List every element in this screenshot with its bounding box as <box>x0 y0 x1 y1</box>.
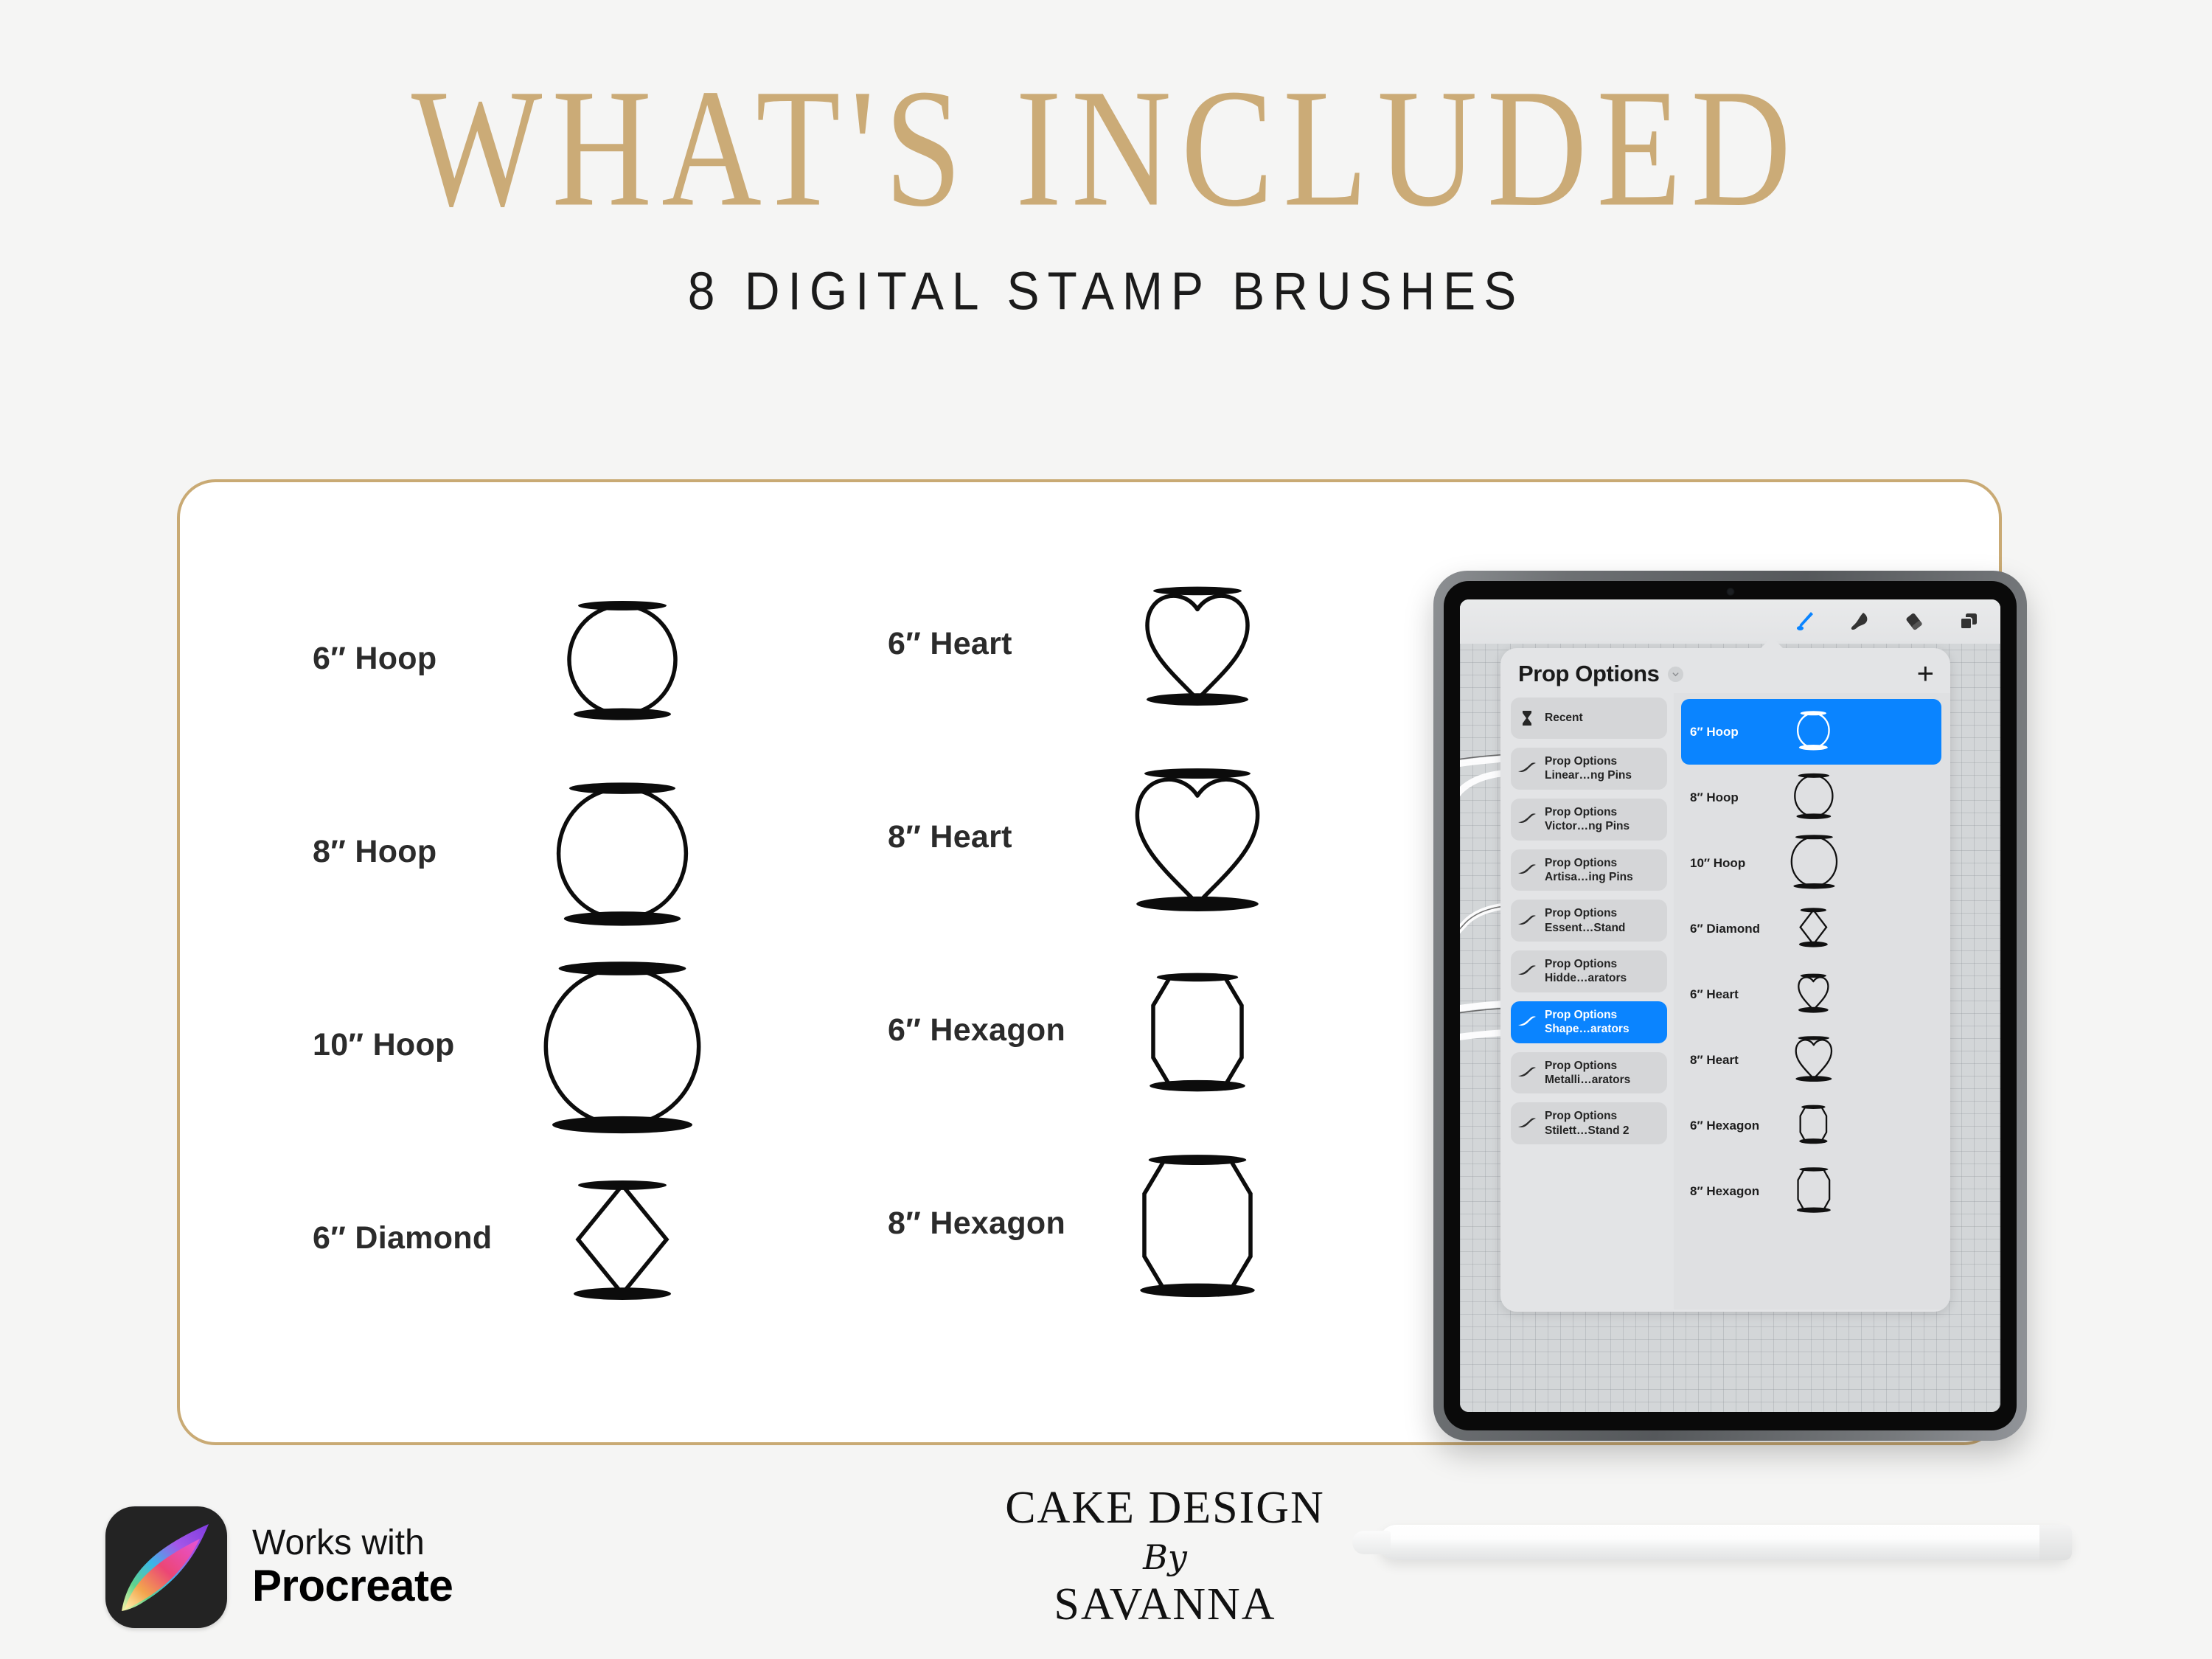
brush-thumb-hoop <box>1791 709 1834 755</box>
shape-label: 10″ Hoop <box>313 1027 455 1063</box>
page-title: WHAT'S INCLUDED <box>0 63 2212 232</box>
brush-label: 8″ Hexagon <box>1690 1184 1759 1199</box>
procreate-logo <box>105 1506 227 1628</box>
brand-signature: CAKE DESIGN By SAVANNA <box>973 1482 1357 1631</box>
shape-label: 6″ Hexagon <box>888 1012 1065 1048</box>
shape-art-hexagon <box>1109 1144 1286 1310</box>
brush-set-label: Prop OptionsMetalli…arators <box>1545 1059 1630 1088</box>
brush-item[interactable]: 6″ Diamond <box>1681 896 1941 961</box>
brush-library-panel: Prop Options + Recent Prop OptionsLinear… <box>1500 648 1950 1312</box>
brush-set-label: Prop OptionsShape…arators <box>1545 1008 1630 1037</box>
works-with-label: Works with <box>252 1525 453 1562</box>
brush-item[interactable]: 8″ Heart <box>1681 1027 1941 1093</box>
brush-label: 6″ Hoop <box>1690 725 1739 740</box>
brand-line-2: By <box>973 1537 1357 1577</box>
brush-label: 6″ Heart <box>1690 987 1739 1002</box>
brush-icon <box>1517 964 1537 978</box>
brush-set-label: Recent <box>1545 711 1583 725</box>
brush-item[interactable]: 8″ Hexagon <box>1681 1158 1941 1224</box>
brush-icon <box>1517 1066 1537 1079</box>
brush-icon <box>1517 762 1537 775</box>
brand-line-3: SAVANNA <box>973 1579 1357 1631</box>
brush-item[interactable]: 8″ Hoop <box>1681 765 1941 830</box>
shape-label: 6″ Heart <box>888 626 1012 662</box>
brush-thumb-heart <box>1787 1033 1840 1088</box>
panel-body: Recent Prop OptionsLinear…ng Pins Prop O… <box>1500 693 1950 1310</box>
chevron-down-icon[interactable] <box>1668 667 1683 682</box>
brush-set-item[interactable]: Prop OptionsShape…arators <box>1511 1001 1667 1043</box>
shape-label: 6″ Diamond <box>313 1220 492 1256</box>
shape-art-hexagon <box>1124 964 1271 1103</box>
brush-set-item[interactable]: Prop OptionsVictor…ng Pins <box>1511 799 1667 841</box>
paintbrush-icon[interactable] <box>1792 609 1818 634</box>
brush-icon <box>1517 1117 1537 1130</box>
pencil-flat-end <box>2039 1525 2072 1560</box>
ipad-device: Prop Options + Recent Prop OptionsLinear… <box>1433 571 2027 1441</box>
shape-label: 8″ Heart <box>888 819 1012 855</box>
brush-set-item[interactable]: Prop OptionsArtisa…ing Pins <box>1511 849 1667 891</box>
brush-label: 8″ Hoop <box>1690 790 1739 805</box>
brush-item[interactable]: 10″ Hoop <box>1681 830 1941 896</box>
shape-art-heart <box>1109 757 1286 924</box>
apple-pencil <box>1379 1525 2072 1560</box>
brush-set-label: Prop OptionsHidde…arators <box>1545 957 1627 986</box>
front-camera-icon <box>1726 588 1734 596</box>
brush-icon <box>1517 1015 1537 1029</box>
brush-set-item[interactable]: Recent <box>1511 698 1667 739</box>
shape-art-hoop <box>549 592 696 731</box>
shape-label: 6″ Hoop <box>313 641 437 677</box>
brush-thumb-hexagon <box>1787 1164 1840 1219</box>
brush-thumb-hoop <box>1787 771 1840 825</box>
eraser-icon[interactable] <box>1902 609 1927 634</box>
brush-set-item[interactable]: Prop OptionsStilett…Stand 2 <box>1511 1102 1667 1144</box>
brush-set-label: Prop OptionsArtisa…ing Pins <box>1545 856 1633 885</box>
panel-header: Prop Options + <box>1500 648 1950 693</box>
shape-art-hoop <box>534 772 711 939</box>
panel-pointer <box>1759 637 1784 650</box>
brush-label: 10″ Hoop <box>1690 856 1745 871</box>
brush-set-label: Prop OptionsEssent…Stand <box>1545 906 1625 935</box>
procreate-badge: Works with Procreate <box>105 1506 453 1628</box>
shape-art-heart <box>1124 577 1271 717</box>
brush-list: 6″ Hoop 8″ Hoop 10″ Hoop <box>1674 693 1950 1310</box>
brush-thumb-heart <box>1791 971 1834 1018</box>
procreate-caption: Works with Procreate <box>252 1525 453 1609</box>
brush-set-label: Prop OptionsLinear…ng Pins <box>1545 754 1632 783</box>
shape-label: 8″ Hoop <box>313 834 437 870</box>
brand-line-1: CAKE DESIGN <box>973 1482 1357 1534</box>
add-brush-button[interactable]: + <box>1917 664 1934 684</box>
brush-set-item[interactable]: Prop OptionsLinear…ng Pins <box>1511 748 1667 790</box>
shape-art-diamond <box>549 1172 696 1311</box>
brush-thumb-hoop <box>1782 831 1845 896</box>
brush-item[interactable]: 6″ Heart <box>1681 961 1941 1027</box>
layers-icon[interactable] <box>1956 609 1981 634</box>
brush-set-item[interactable]: Prop OptionsHidde…arators <box>1511 950 1667 992</box>
showcase-card: 6″ Hoop 8″ Hoop 10″ Hoop 6″ Diamond <box>177 479 2002 1445</box>
shape-art-hoop <box>516 949 728 1148</box>
brush-icon <box>1517 863 1537 877</box>
pencil-tip <box>1352 1531 1391 1554</box>
header: WHAT'S INCLUDED 8 DIGITAL STAMP BRUSHES <box>0 0 2212 319</box>
brush-thumb-hexagon <box>1791 1102 1834 1149</box>
shape-label: 8″ Hexagon <box>888 1206 1065 1242</box>
ipad-bezel: Prop Options + Recent Prop OptionsLinear… <box>1444 581 2017 1430</box>
smudge-icon[interactable] <box>1847 609 1872 634</box>
brush-set-list: Recent Prop OptionsLinear…ng Pins Prop O… <box>1500 693 1674 1310</box>
brush-label: 6″ Hexagon <box>1690 1119 1759 1133</box>
hourglass-icon <box>1517 710 1537 726</box>
brush-set-item[interactable]: Prop OptionsMetalli…arators <box>1511 1052 1667 1094</box>
page-subtitle: 8 DIGITAL STAMP BRUSHES <box>0 260 2212 321</box>
panel-title: Prop Options <box>1518 661 1660 687</box>
brush-set-item[interactable]: Prop OptionsEssent…Stand <box>1511 900 1667 942</box>
brush-item[interactable]: 6″ Hoop <box>1681 699 1941 765</box>
brush-set-label: Prop OptionsStilett…Stand 2 <box>1545 1109 1630 1138</box>
brush-item[interactable]: 6″ Hexagon <box>1681 1093 1941 1158</box>
procreate-label: Procreate <box>252 1562 453 1610</box>
brush-icon <box>1517 813 1537 826</box>
brush-label: 8″ Heart <box>1690 1053 1739 1068</box>
brush-icon <box>1517 914 1537 928</box>
brush-thumb-diamond <box>1791 905 1834 952</box>
brush-label: 6″ Diamond <box>1690 922 1760 936</box>
ipad-screen: Prop Options + Recent Prop OptionsLinear… <box>1460 599 2000 1412</box>
brush-set-label: Prop OptionsVictor…ng Pins <box>1545 805 1630 834</box>
procreate-toolbar <box>1460 599 2000 644</box>
